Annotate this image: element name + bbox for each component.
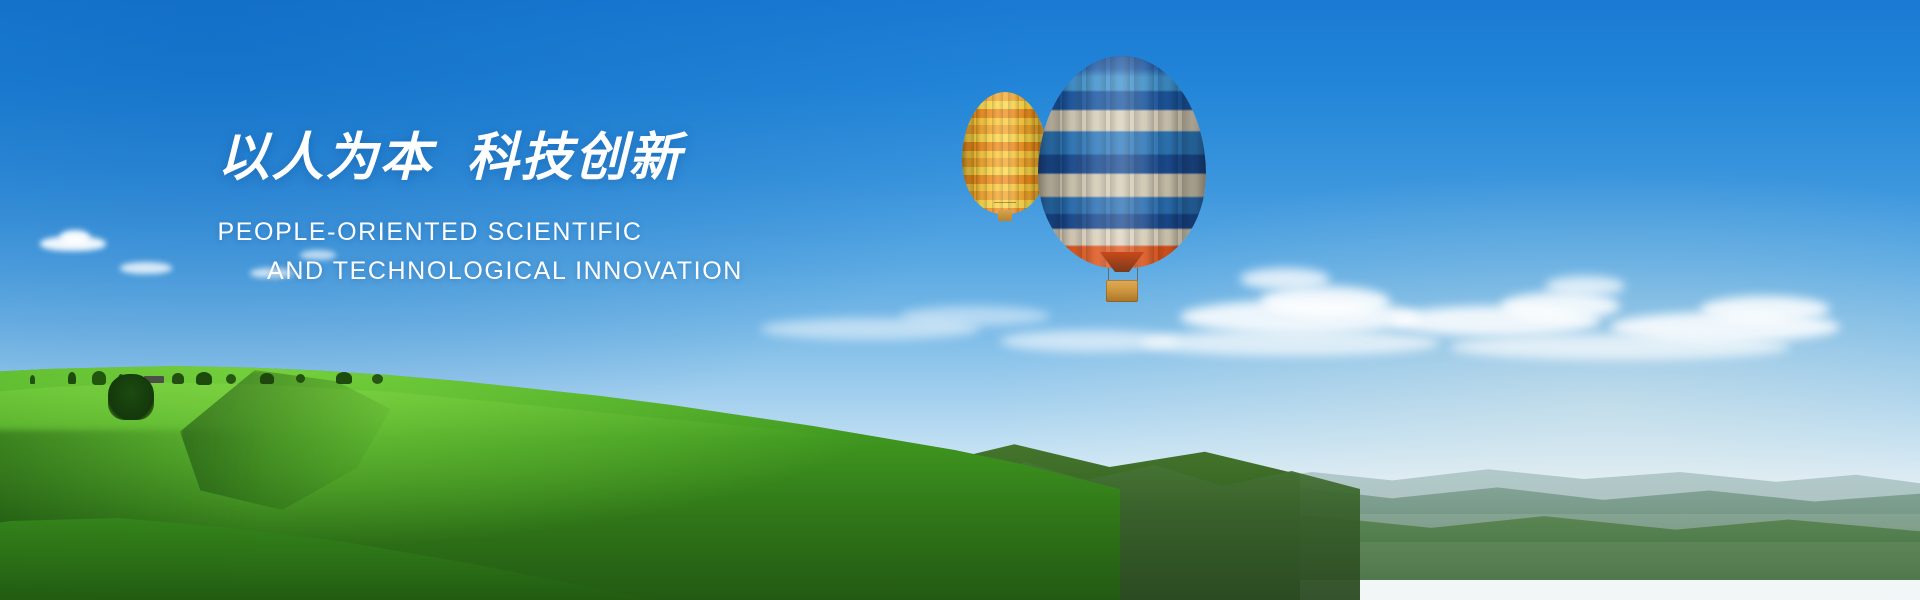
balloon-orange — [962, 92, 1048, 214]
balloon-orange-rigging — [994, 202, 1016, 213]
hero-banner: 以人为本 科技创新 PEOPLE-ORIENTED SCIENTIFIC AND… — [0, 0, 1920, 600]
balloon-blue-envelope — [1038, 56, 1206, 268]
subtitle-line-1: PEOPLE-ORIENTED SCIENTIFIC — [0, 213, 900, 252]
balloon-blue — [1038, 56, 1206, 268]
page-title: 以人为本 科技创新 — [0, 130, 900, 187]
conifer-clump — [108, 374, 154, 420]
landscape — [0, 270, 1920, 600]
banner-copy: 以人为本 科技创新 PEOPLE-ORIENTED SCIENTIFIC AND… — [0, 130, 900, 291]
balloon-orange-envelope — [962, 92, 1048, 214]
banner-subtitle: PEOPLE-ORIENTED SCIENTIFIC AND TECHNOLOG… — [0, 213, 900, 291]
subtitle-line-2: AND TECHNOLOGICAL INNOVATION — [0, 252, 900, 291]
